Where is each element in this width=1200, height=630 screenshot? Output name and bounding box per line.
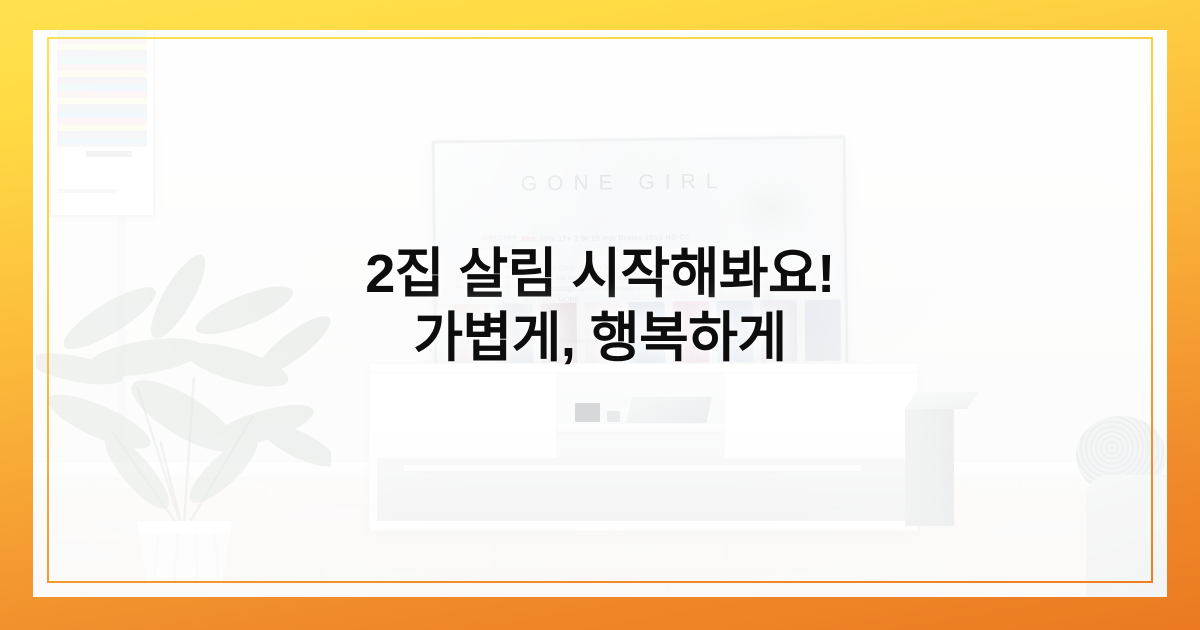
console-plinth: [370, 521, 917, 529]
art-signature: [86, 151, 132, 157]
poster-5: [629, 301, 665, 363]
poster-8: [761, 299, 797, 361]
framed-wall-art: [49, 30, 156, 217]
tv-poster-row: [453, 299, 841, 366]
poster-2: [497, 303, 533, 365]
poster-6: [673, 300, 709, 362]
poster-7: [717, 300, 753, 362]
console-drawer: [377, 458, 909, 526]
poster-1: [453, 303, 489, 365]
console-top-panel: [370, 364, 917, 372]
tv-meta-line: 98% 98% 17+ 2 hr 29 min Drama 2014 HD CC: [522, 234, 691, 243]
thumbnail-card: GONE GIRL DIRECTOR David Fincher STARRIN…: [0, 0, 1200, 630]
speaker-tower: [905, 407, 954, 526]
art-caption: [57, 189, 117, 194]
tv-score: 98%: [522, 236, 538, 243]
art-stripes: [57, 30, 147, 147]
poster-3: [541, 302, 577, 364]
television: GONE GIRL DIRECTOR David Fincher STARRIN…: [432, 135, 849, 375]
poster-9: [805, 299, 841, 361]
tv-director-label: DIRECTOR: [482, 235, 517, 241]
potted-plant: [36, 240, 331, 592]
tv-director-name: David Fincher: [481, 245, 518, 251]
shelf-divider: [557, 424, 725, 432]
tv-starring-label: STARRING: [483, 265, 518, 271]
set-top-box: [575, 403, 600, 422]
pouf-body: [1086, 475, 1167, 597]
background-photo: GONE GIRL DIRECTOR David Fincher STARRIN…: [33, 30, 1167, 597]
console-slab-device: [626, 397, 712, 423]
speaker-top-face: [905, 392, 979, 409]
tv-credits: DIRECTOR David Fincher STARRING Ben Affl…: [452, 234, 518, 294]
drawer-handle: [404, 465, 861, 471]
poster-4: [585, 301, 621, 363]
small-device: [607, 411, 620, 422]
tv-meta-rest: 98% 17+ 2 hr 29 min Drama 2014 HD CC: [540, 234, 691, 243]
media-console: [369, 363, 918, 530]
tv-starring-names: Ben Affleck Rosamund Pike Neil Patrick H…: [457, 274, 518, 291]
knit-pouf: [1076, 416, 1167, 597]
